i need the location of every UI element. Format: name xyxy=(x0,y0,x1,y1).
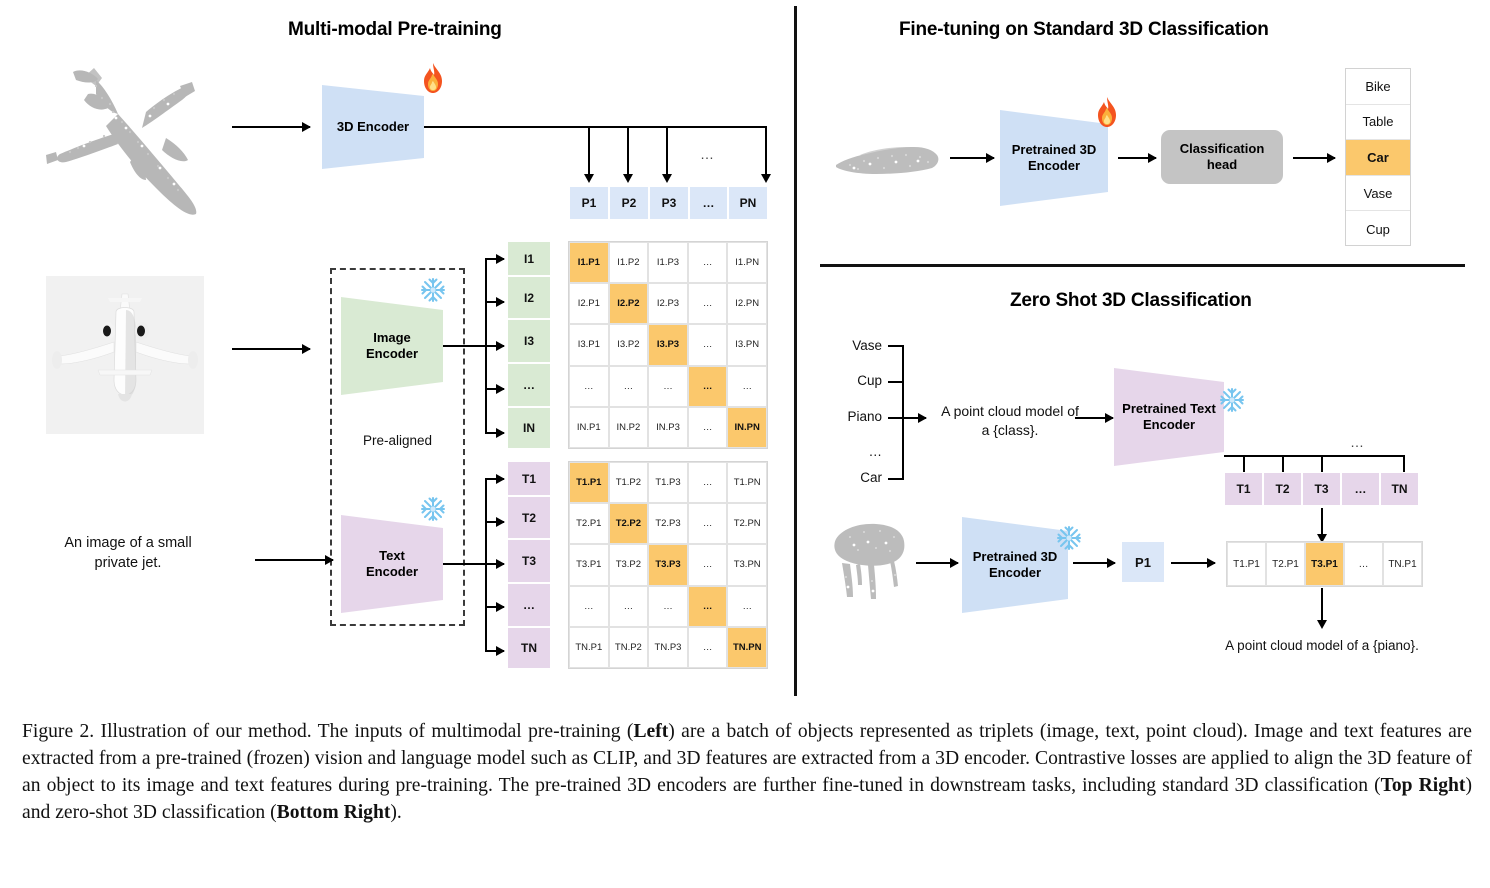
t-cell: TN xyxy=(507,627,551,669)
t-cell: T2 xyxy=(507,496,551,539)
zeroshot-sim-cell: T2.P1 xyxy=(1266,542,1305,586)
arrow-p1-to-simrow xyxy=(1171,562,1215,564)
horizontal-divider xyxy=(820,264,1465,267)
image-pointcloud-similarity-matrix: I1.P1I1.P2I1.P3…I1.PNI2.P1I2.P2I2.P3…I2.… xyxy=(568,241,768,449)
bus-drop-p3 xyxy=(666,126,668,174)
3d-encoder-label: 3D Encoder xyxy=(337,119,409,135)
arrow-prompt-to-text-encoder xyxy=(1075,417,1113,419)
figure-caption: Figure 2. Illustration of our method. Th… xyxy=(22,718,1472,826)
matrix-cell: … xyxy=(727,366,767,407)
matrix-cell: I2.P3 xyxy=(648,283,688,324)
arrow-to-in xyxy=(485,432,504,434)
bottomright-panel-title: Zero Shot 3D Classification xyxy=(1010,290,1252,312)
text-encoder-label: TextEncoder xyxy=(366,548,418,581)
image-feature-column: I1 I2 I3 … IN xyxy=(507,241,551,449)
matrix-cell: T2.P3 xyxy=(648,503,688,544)
classification-head-label: Classificationhead xyxy=(1180,141,1265,174)
caption-bold-topright: Top Right xyxy=(1381,775,1466,796)
text-input-caption: An image of a smallprivate jet. xyxy=(22,534,234,573)
p-cell: PN xyxy=(728,186,768,220)
matrix-cell: IN.P1 xyxy=(569,407,609,448)
i-cell: I2 xyxy=(507,276,551,319)
matrix-cell: … xyxy=(569,586,609,627)
caption-bold-left: Left xyxy=(633,721,668,742)
matrix-cell: I1.P2 xyxy=(609,242,649,283)
snowflake-icon xyxy=(420,496,446,522)
i-cell: I1 xyxy=(507,241,551,276)
zeroshot-class-item: Vase xyxy=(820,338,882,353)
matrix-cell: TN.P1 xyxy=(569,627,609,668)
vertical-divider xyxy=(794,6,797,696)
bus-line-3d xyxy=(424,126,767,128)
arrow-encoder-to-p1 xyxy=(1073,562,1115,564)
classification-head-block: Classificationhead xyxy=(1161,130,1283,184)
matrix-cell: I1.P1 xyxy=(569,242,609,283)
t-cell: T3 xyxy=(1302,472,1341,506)
matrix-cell: I2.P2 xyxy=(609,283,649,324)
matrix-cell: T3.P1 xyxy=(569,544,609,585)
pretrained-3d-encoder-label-bottomright: Pretrained 3DEncoder xyxy=(973,549,1058,582)
i-cell: IN xyxy=(507,407,551,449)
i-cell: … xyxy=(507,363,551,407)
matrix-cell: … xyxy=(688,283,728,324)
fire-icon xyxy=(1093,96,1121,128)
zeroshot-class-item: Piano xyxy=(820,409,882,424)
matrix-cell: T2.P1 xyxy=(569,503,609,544)
car-point-cloud-icon xyxy=(830,135,945,183)
matrix-cell: TN.P2 xyxy=(609,627,649,668)
matrix-cell: … xyxy=(688,407,728,448)
matrix-cell: I2.P1 xyxy=(569,283,609,324)
matrix-cell: … xyxy=(609,586,649,627)
class-list-item: Vase xyxy=(1346,176,1410,212)
left-panel-title: Multi-modal Pre-training xyxy=(288,19,502,41)
arrow-trow-to-simrow xyxy=(1321,508,1323,534)
snowflake-icon xyxy=(420,277,446,303)
matrix-cell: IN.P2 xyxy=(609,407,649,448)
text-pointcloud-similarity-matrix: T1.P1T1.P2T1.P3…T1.PNT2.P1T2.P2T2.P3…T2.… xyxy=(568,461,768,669)
arrow-simrow-to-result xyxy=(1321,588,1323,620)
pretrained-3d-encoder-block-bottomright: Pretrained 3DEncoder xyxy=(962,517,1068,613)
fire-icon xyxy=(419,62,447,94)
snowflake-icon xyxy=(1219,387,1245,413)
zeroshot-class-item: Car xyxy=(820,470,882,485)
text-fanout-stem xyxy=(443,563,485,565)
matrix-cell: … xyxy=(727,586,767,627)
p-cell: P3 xyxy=(649,186,689,220)
arrow-to-t-dots xyxy=(485,606,504,608)
arrow-head-to-classlist xyxy=(1293,157,1335,159)
matrix-cell: … xyxy=(688,627,728,668)
zeroshot-similarity-row: T1.P1T2.P1T3.P1…TN.P1 xyxy=(1226,541,1423,587)
arrow-car-to-encoder xyxy=(950,157,994,159)
caption-part-1: Figure 2. Illustration of our method. Th… xyxy=(22,721,633,742)
class-list-item: Car xyxy=(1346,140,1410,176)
arrow-to-t1 xyxy=(485,478,504,480)
rendered-jet-image xyxy=(46,276,204,434)
image-fanout-stem xyxy=(443,345,485,347)
caption-bold-bottomright: Bottom Right xyxy=(277,802,391,823)
t-cell: TN xyxy=(1380,472,1419,506)
matrix-cell: … xyxy=(609,366,649,407)
pretrained-3d-encoder-label: Pretrained 3DEncoder xyxy=(1012,142,1097,175)
matrix-cell: T2.PN xyxy=(727,503,767,544)
matrix-cell: … xyxy=(648,586,688,627)
bus-ellipsis-label-zeroshot: … xyxy=(1350,434,1365,450)
zeroshot-sim-cell: T1.P1 xyxy=(1227,542,1266,586)
arrow-image-to-image-encoder xyxy=(232,348,310,350)
pointcloud-feature-row: P1 P2 P3 … PN xyxy=(569,186,768,220)
bus-ellipsis-label: … xyxy=(700,146,715,162)
bus-drop-p2 xyxy=(627,126,629,174)
matrix-cell: … xyxy=(688,586,728,627)
pretrained-text-encoder-block: Pretrained TextEncoder xyxy=(1114,368,1224,466)
matrix-cell: TN.PN xyxy=(727,627,767,668)
matrix-cell: … xyxy=(688,242,728,283)
zeroshot-sim-cell: TN.P1 xyxy=(1383,542,1422,586)
arrow-piano-to-encoder xyxy=(916,562,958,564)
t-cell: … xyxy=(1341,472,1380,506)
matrix-cell: … xyxy=(688,462,728,503)
prompt-template-label: A point cloud model ofa {class}. xyxy=(910,402,1110,440)
matrix-cell: TN.P3 xyxy=(648,627,688,668)
matrix-cell: T1.P3 xyxy=(648,462,688,503)
arrow-text-to-text-encoder xyxy=(255,559,333,561)
t-cell: T1 xyxy=(507,461,551,496)
p-cell: … xyxy=(689,186,728,220)
bus-drop-pn xyxy=(765,126,767,174)
pre-aligned-label: Pre-aligned xyxy=(330,432,465,450)
text-encoder-block: TextEncoder xyxy=(341,515,443,613)
pretrained-3d-encoder-block-topright: Pretrained 3DEncoder xyxy=(1000,110,1108,206)
p1-feature-cell: P1 xyxy=(1121,541,1165,583)
matrix-cell: I3.P2 xyxy=(609,324,649,365)
arrow-to-i-dots xyxy=(485,388,504,390)
text-feature-column: T1 T2 T3 … TN xyxy=(507,461,551,669)
airplane-point-cloud-icon xyxy=(18,42,268,232)
p-cell: P2 xyxy=(609,186,649,220)
p-cell: P1 xyxy=(569,186,609,220)
arrow-to-t2 xyxy=(485,521,504,523)
matrix-cell: … xyxy=(648,366,688,407)
image-encoder-block: ImageEncoder xyxy=(341,297,443,395)
zeroshot-sim-cell: … xyxy=(1344,542,1383,586)
class-prediction-list: BikeTableCarVaseCup xyxy=(1345,68,1411,246)
arrow-encoder-to-head xyxy=(1118,157,1156,159)
bracket-spine xyxy=(902,345,904,480)
snowflake-icon xyxy=(1056,525,1082,551)
zeroshot-sim-cell: T3.P1 xyxy=(1305,542,1344,586)
zeroshot-class-item: Cup xyxy=(820,373,882,388)
3d-encoder-block: 3D Encoder xyxy=(322,85,424,169)
matrix-cell: … xyxy=(688,503,728,544)
matrix-cell: I3.P3 xyxy=(648,324,688,365)
bus-drop-p1 xyxy=(588,126,590,174)
arrow-to-t3 xyxy=(485,563,504,565)
piano-point-cloud-icon xyxy=(828,517,918,609)
matrix-cell: … xyxy=(569,366,609,407)
t-cell: T3 xyxy=(507,539,551,583)
i-cell: I3 xyxy=(507,319,551,363)
matrix-cell: … xyxy=(688,544,728,585)
image-encoder-label: ImageEncoder xyxy=(366,330,418,363)
zeroshot-text-feature-row: T1 T2 T3 … TN xyxy=(1224,472,1419,506)
bus-line-text-zeroshot xyxy=(1224,455,1405,457)
t-cell: T2 xyxy=(1263,472,1302,506)
topright-panel-title: Fine-tuning on Standard 3D Classificatio… xyxy=(899,19,1269,41)
pretrained-text-encoder-label: Pretrained TextEncoder xyxy=(1122,401,1216,434)
arrow-to-i3 xyxy=(485,345,504,347)
matrix-cell: … xyxy=(688,324,728,365)
arrow-to-tn xyxy=(485,650,504,652)
t-cell: … xyxy=(507,583,551,627)
arrow-to-i2 xyxy=(485,301,504,303)
matrix-cell: … xyxy=(688,366,728,407)
matrix-cell: T3.P2 xyxy=(609,544,649,585)
arrow-to-i1 xyxy=(485,258,504,260)
matrix-cell: IN.P3 xyxy=(648,407,688,448)
matrix-cell: I3.P1 xyxy=(569,324,609,365)
matrix-cell: T1.PN xyxy=(727,462,767,503)
arrow-pointcloud-to-3d-encoder xyxy=(232,126,310,128)
class-list-item: Bike xyxy=(1346,69,1410,105)
matrix-cell: I2.PN xyxy=(727,283,767,324)
matrix-cell: IN.PN xyxy=(727,407,767,448)
matrix-cell: I1.P3 xyxy=(648,242,688,283)
matrix-cell: T1.P1 xyxy=(569,462,609,503)
matrix-cell: T3.PN xyxy=(727,544,767,585)
matrix-cell: I3.PN xyxy=(727,324,767,365)
zeroshot-class-item: … xyxy=(820,444,882,459)
matrix-cell: T1.P2 xyxy=(609,462,649,503)
class-list-item: Table xyxy=(1346,105,1410,141)
figure-panel: Multi-modal Pre-training xyxy=(0,0,1490,712)
caption-part-4: ). xyxy=(390,802,401,823)
t-cell: T1 xyxy=(1224,472,1263,506)
matrix-cell: I1.PN xyxy=(727,242,767,283)
zeroshot-result-label: A point cloud model of a {piano}. xyxy=(1180,637,1464,655)
text-fanout-spine xyxy=(485,478,487,652)
matrix-cell: T3.P3 xyxy=(648,544,688,585)
class-list-item: Cup xyxy=(1346,211,1410,247)
matrix-cell: T2.P2 xyxy=(609,503,649,544)
